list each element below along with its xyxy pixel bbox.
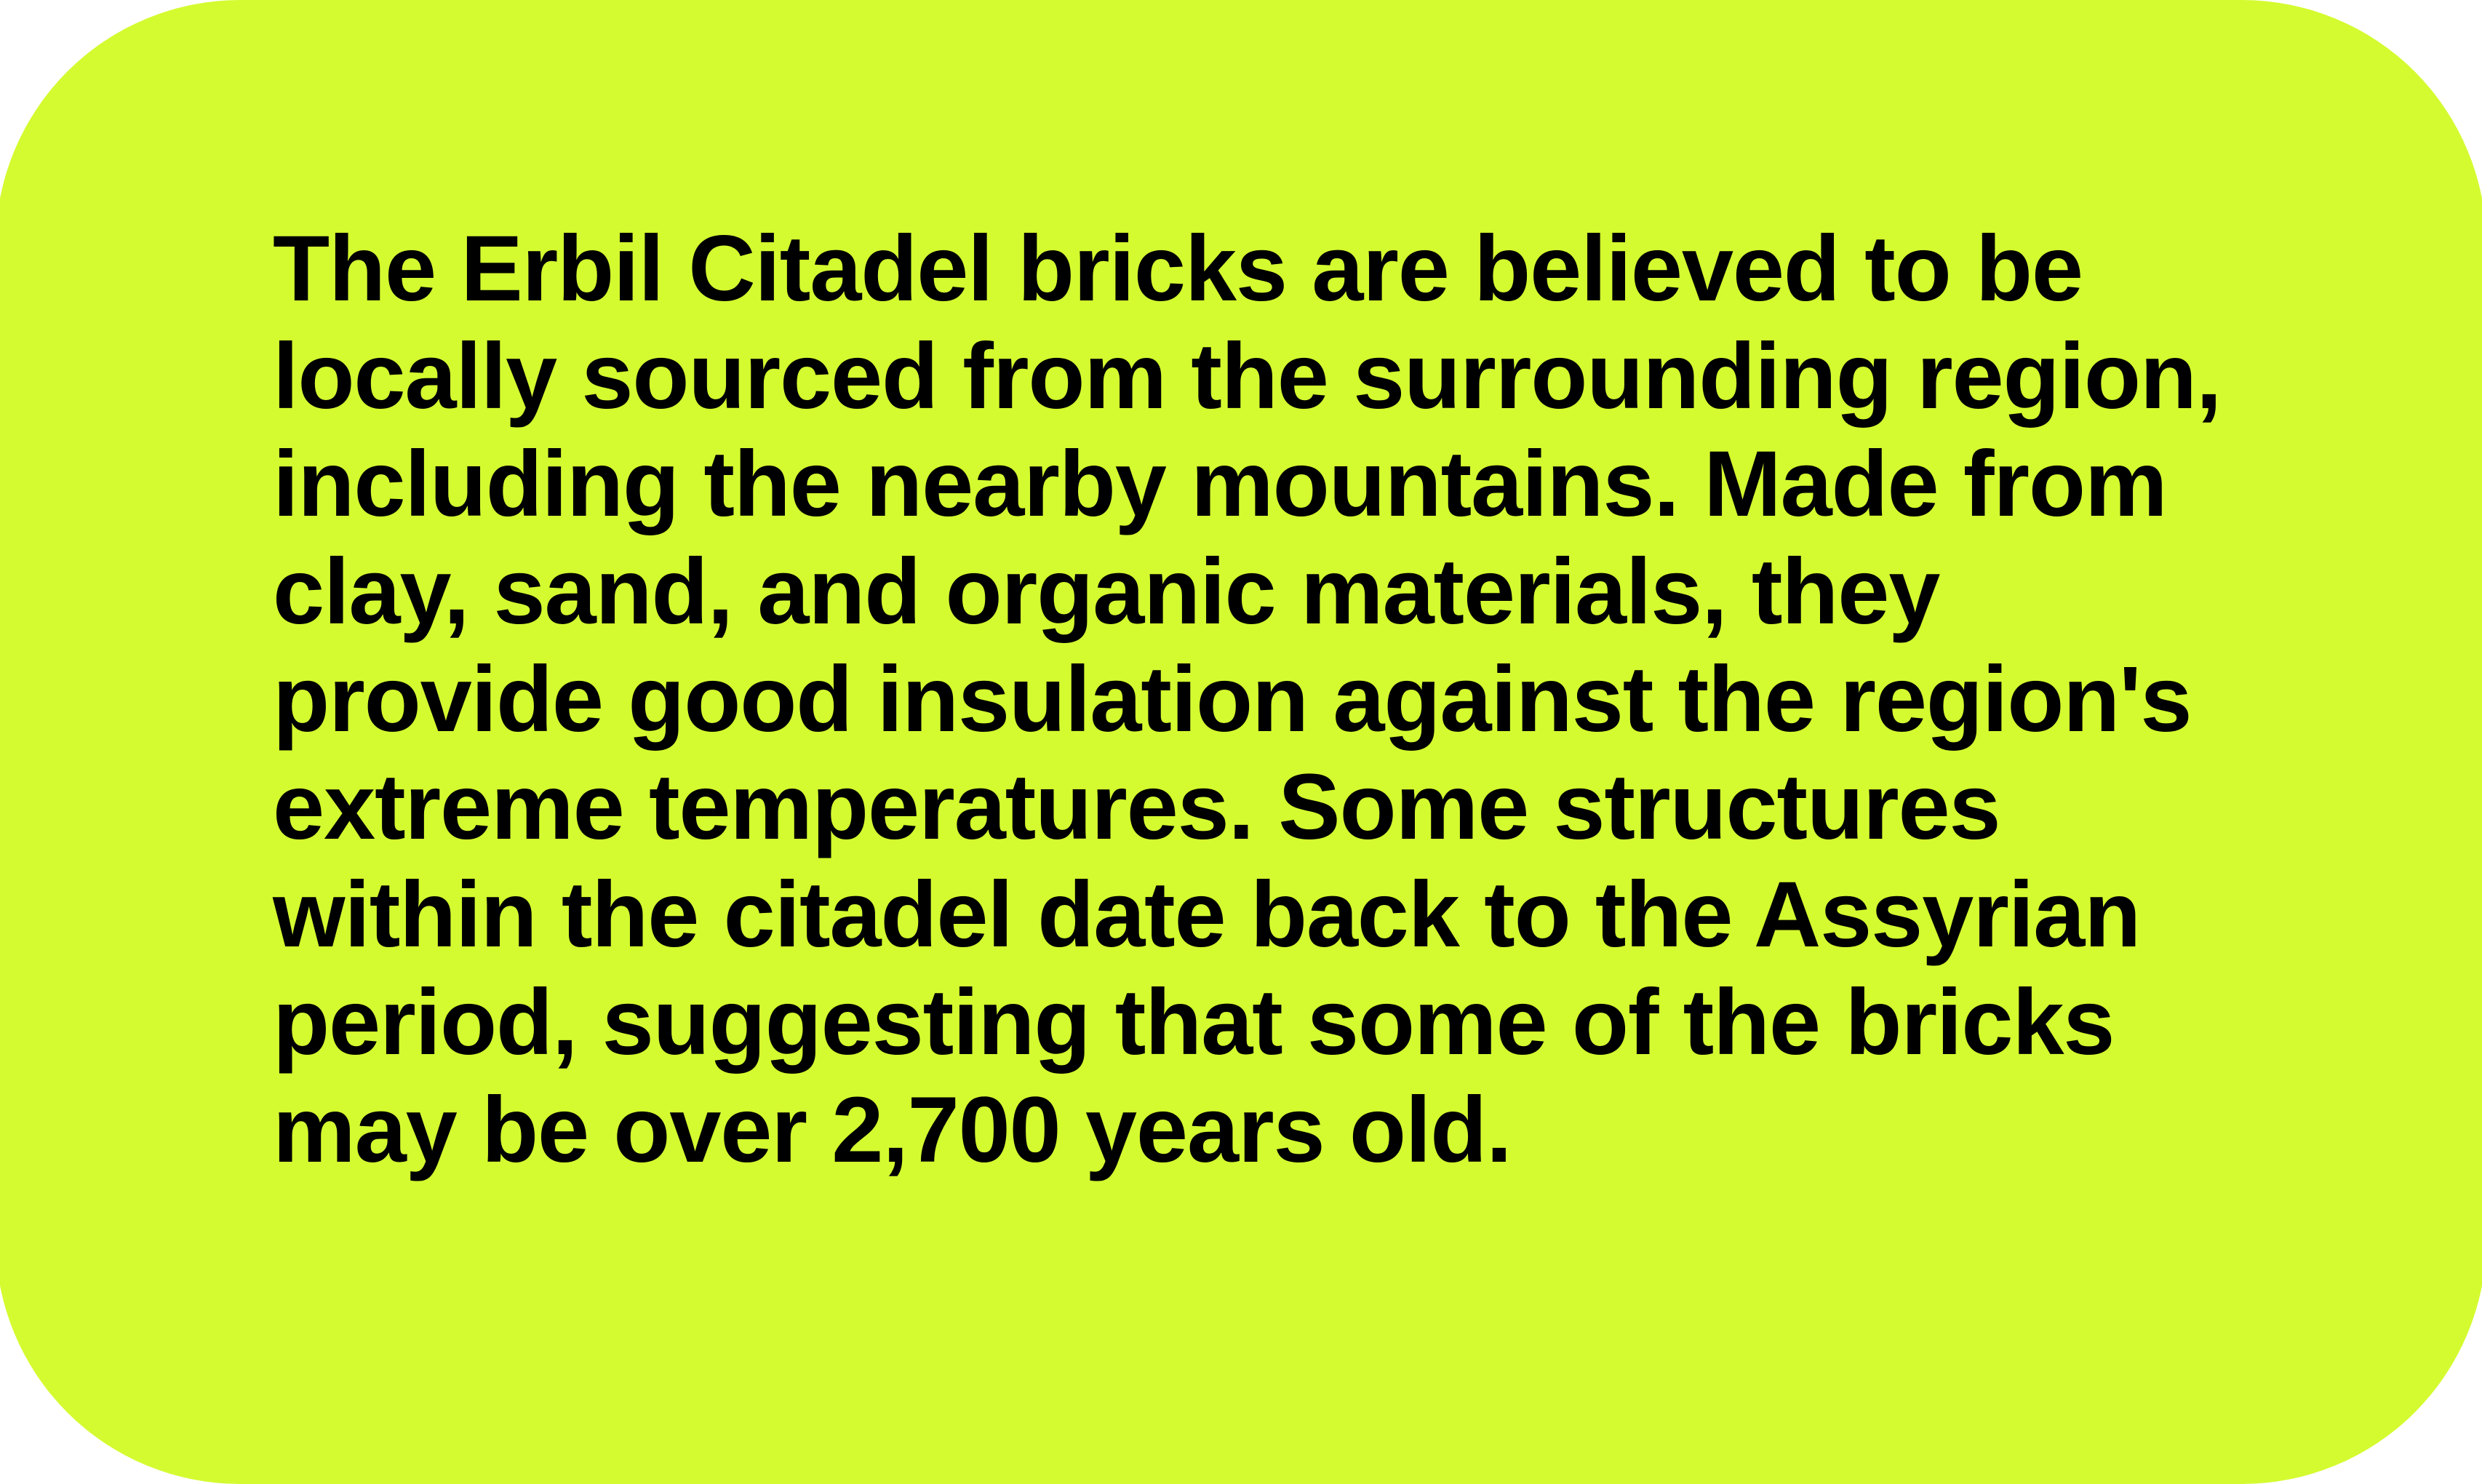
paragraph-line-7: within the citadel date back to the Assy… — [273, 861, 2179, 969]
paragraph-line-2: locally sourced from the surrounding reg… — [273, 323, 2179, 431]
paragraph-line-9: may be over 2,700 years old. — [273, 1077, 2179, 1184]
paragraph-line-5: provide good insulation against the regi… — [273, 646, 2179, 754]
card-body-text: The Erbil Citadel bricks are believed to… — [273, 215, 2179, 1184]
screenshot-canvas: The Erbil Citadel bricks are believed to… — [0, 0, 2482, 1407]
paragraph-line-4: clay, sand, and organic materials, they — [273, 538, 2179, 646]
paragraph-line-3: including the nearby mountains. Made fro… — [273, 431, 2179, 538]
info-card: The Erbil Citadel bricks are believed to… — [0, 0, 2482, 1484]
paragraph-line-1: The Erbil Citadel bricks are believed to… — [273, 215, 2179, 323]
paragraph-line-8: period, suggesting that some of the bric… — [273, 969, 2179, 1077]
paragraph-line-6: extreme temperatures. Some structures — [273, 754, 2179, 861]
